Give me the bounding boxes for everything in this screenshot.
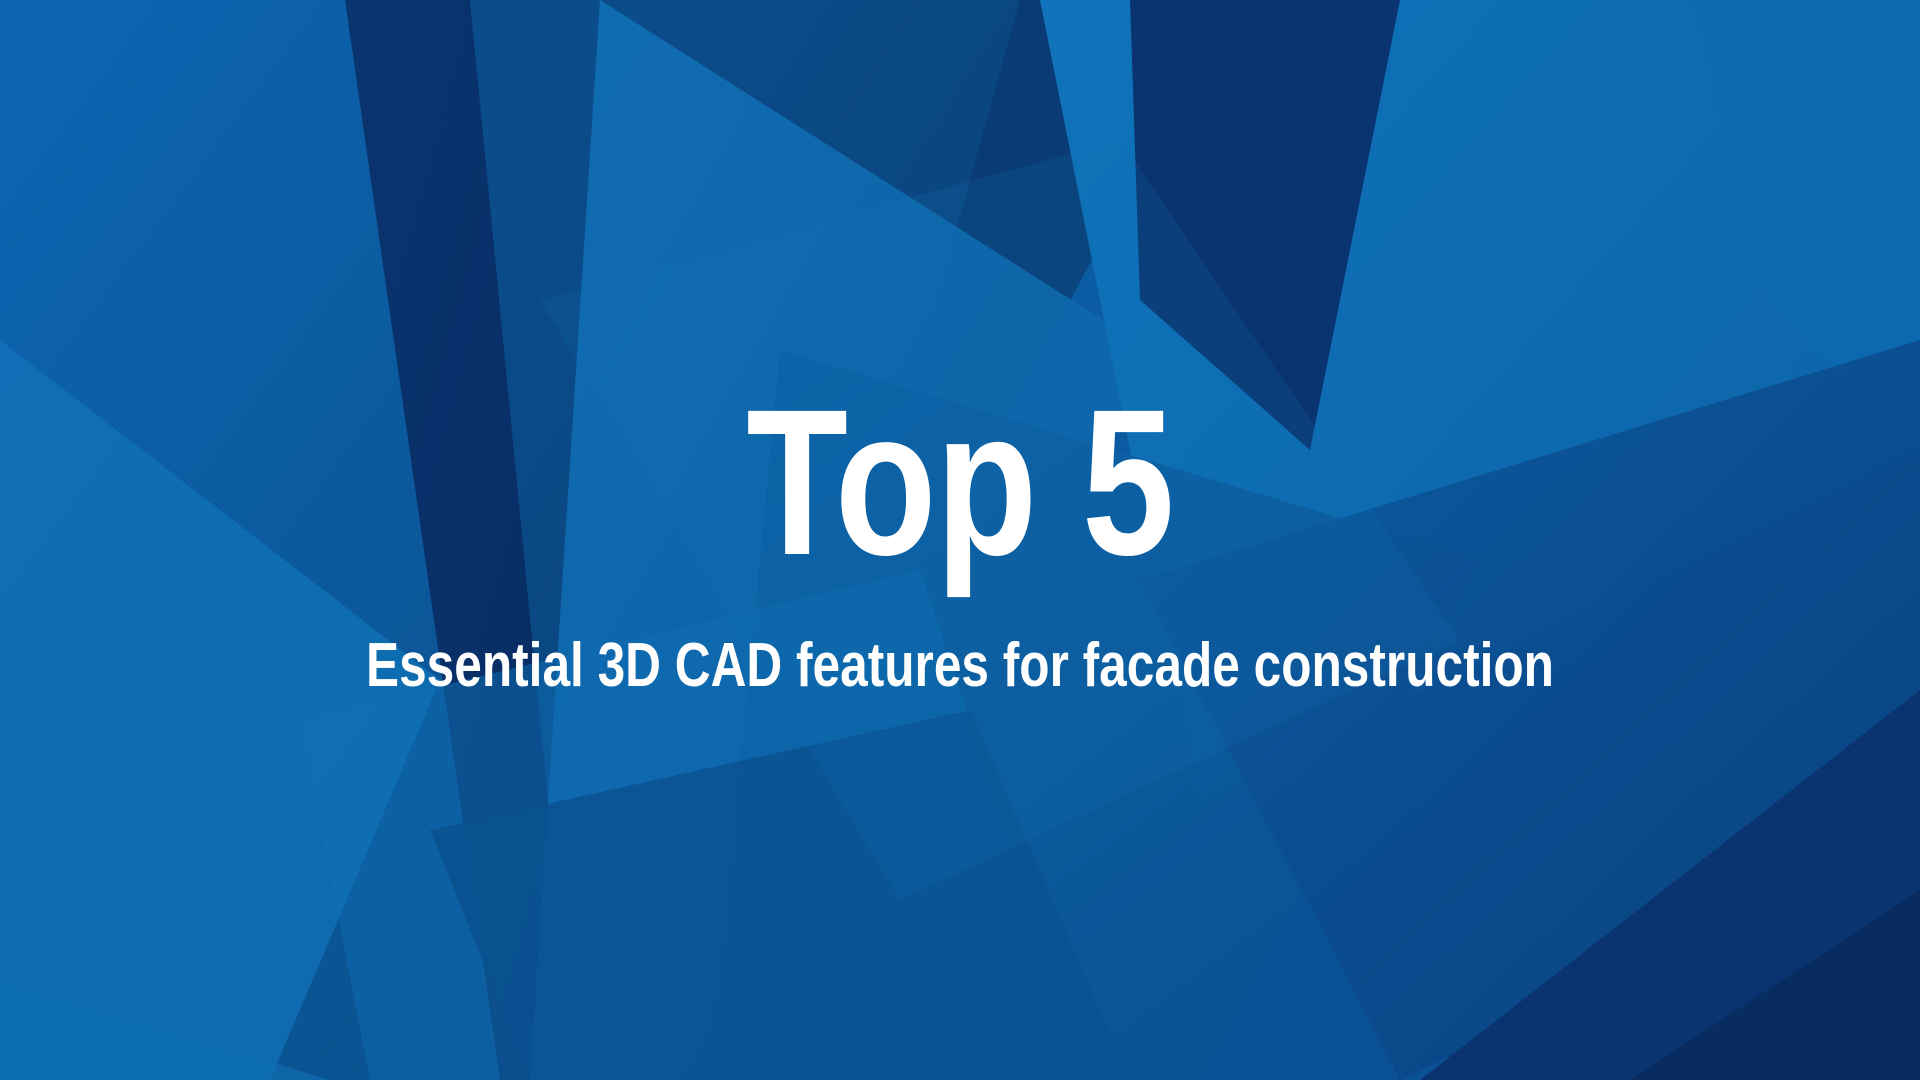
title-block: Top 5 Essential 3D CAD features for faca… <box>0 382 1920 699</box>
page-subtitle: Essential 3D CAD features for facade con… <box>192 633 1728 698</box>
slide-root: Top 5 Essential 3D CAD features for faca… <box>0 0 1920 1080</box>
slide-content: Top 5 Essential 3D CAD features for faca… <box>0 0 1920 1080</box>
page-title: Top 5 <box>192 382 1728 586</box>
